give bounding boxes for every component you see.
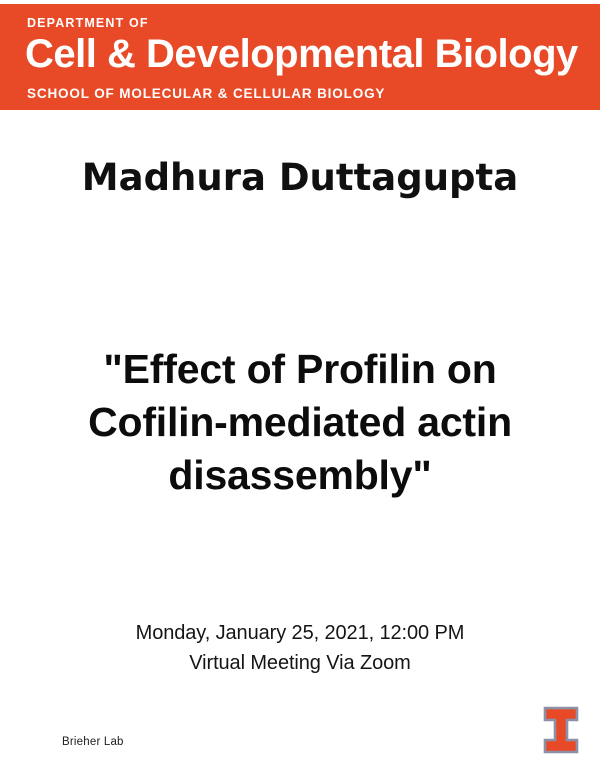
department-wordmark: Cell & Developmental Biology [25,31,578,78]
illinois-block-i-logo [541,705,581,755]
department-eyebrow-label: DEPARTMENT OF [27,17,149,30]
talk-title: "Effect of Profilin on Cofilin-mediated … [30,343,570,502]
lab-credit: Brieher Lab [62,737,124,749]
speaker-name: Madhura Duttagupta [0,155,600,200]
event-details: Monday, January 25, 2021, 12:00 PM Virtu… [0,618,600,679]
seminar-flyer: DEPARTMENT OF Cell & Developmental Biolo… [0,0,600,777]
event-datetime: Monday, January 25, 2021, 12:00 PM [0,618,600,648]
event-location: Virtual Meeting Via Zoom [0,648,600,678]
school-subline-label: SCHOOL OF MOLECULAR & CELLULAR BIOLOGY [27,87,385,101]
department-header-banner: DEPARTMENT OF Cell & Developmental Biolo… [0,4,600,110]
